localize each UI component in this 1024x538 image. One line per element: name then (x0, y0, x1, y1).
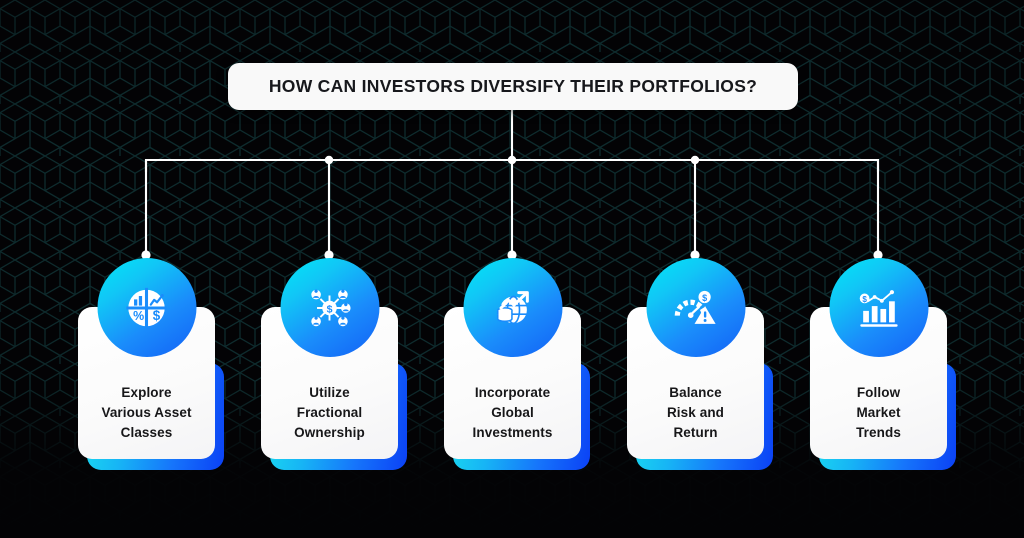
node-balance-risk-and-return[interactable]: BalanceRisk andReturn $ (627, 307, 764, 470)
globe-coins-growth-arrow-icon (490, 285, 536, 331)
node-follow-market-trends[interactable]: FollowMarketTrends (810, 307, 947, 470)
risk-gauge-warning-icon: $ (673, 285, 719, 331)
main-question-banner: HOW CAN INVESTORS DIVERSIFY THEIR PORTFO… (228, 63, 798, 110)
infographic-canvas: HOW CAN INVESTORS DIVERSIFY THEIR PORTFO… (0, 0, 1024, 538)
page-title: HOW CAN INVESTORS DIVERSIFY THEIR PORTFO… (269, 76, 757, 97)
connector-junction-dot-center (508, 156, 516, 164)
icon-badge-1: % $ (97, 258, 196, 357)
node-incorporate-global-investments[interactable]: IncorporateGlobalInvestments (444, 307, 581, 470)
svg-text:%: % (133, 308, 144, 322)
shared-coin-ownership-icon: $ (307, 285, 353, 331)
connector-junction-dot-4 (691, 156, 699, 164)
svg-text:$: $ (327, 303, 333, 315)
card-label-1: ExploreVarious AssetClasses (78, 383, 215, 443)
card-label-2: UtilizeFractionalOwnership (261, 383, 398, 443)
icon-badge-5: $ (829, 258, 928, 357)
icon-badge-3 (463, 258, 562, 357)
svg-text:$: $ (702, 292, 707, 302)
connector-junction-dot-2 (325, 156, 333, 164)
card-label-5: FollowMarketTrends (810, 383, 947, 443)
icon-badge-4: $ (646, 258, 745, 357)
icon-badge-2: $ (280, 258, 379, 357)
pie-chart-asset-classes-icon: % $ (124, 285, 170, 331)
node-utilize-fractional-ownership[interactable]: UtilizeFractionalOwnership $ (261, 307, 398, 470)
card-label-4: BalanceRisk andReturn (627, 383, 764, 443)
svg-text:$: $ (153, 307, 161, 322)
card-label-3: IncorporateGlobalInvestments (444, 383, 581, 443)
bar-chart-trend-line-icon: $ (856, 285, 902, 331)
node-explore-various-asset-classes[interactable]: ExploreVarious AssetClasses % $ (78, 307, 215, 470)
svg-text:$: $ (862, 294, 867, 303)
